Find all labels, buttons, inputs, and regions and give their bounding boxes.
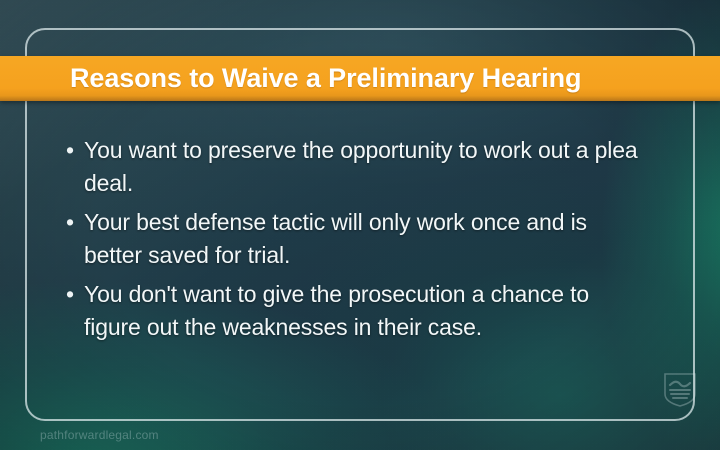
list-item: • Your best defense tactic will only wor… (62, 206, 672, 272)
watermark-url: pathforwardlegal.com (40, 428, 159, 442)
list-item-text: You don't want to give the prosecution a… (84, 278, 649, 344)
list-item: • You want to preserve the opportunity t… (62, 134, 672, 200)
bullet-list: • You want to preserve the opportunity t… (62, 134, 672, 350)
bullet-dot-icon: • (62, 206, 84, 239)
list-item-text: You want to preserve the opportunity to … (84, 134, 649, 200)
shield-book-logo-icon (663, 372, 697, 408)
list-item: • You don't want to give the prosecution… (62, 278, 672, 344)
title-banner: Reasons to Waive a Preliminary Hearing (0, 56, 720, 101)
slide-canvas: Reasons to Waive a Preliminary Hearing •… (0, 0, 720, 450)
bullet-dot-icon: • (62, 278, 84, 311)
list-item-text: Your best defense tactic will only work … (84, 206, 649, 272)
page-title: Reasons to Waive a Preliminary Hearing (0, 63, 581, 94)
bullet-dot-icon: • (62, 134, 84, 167)
